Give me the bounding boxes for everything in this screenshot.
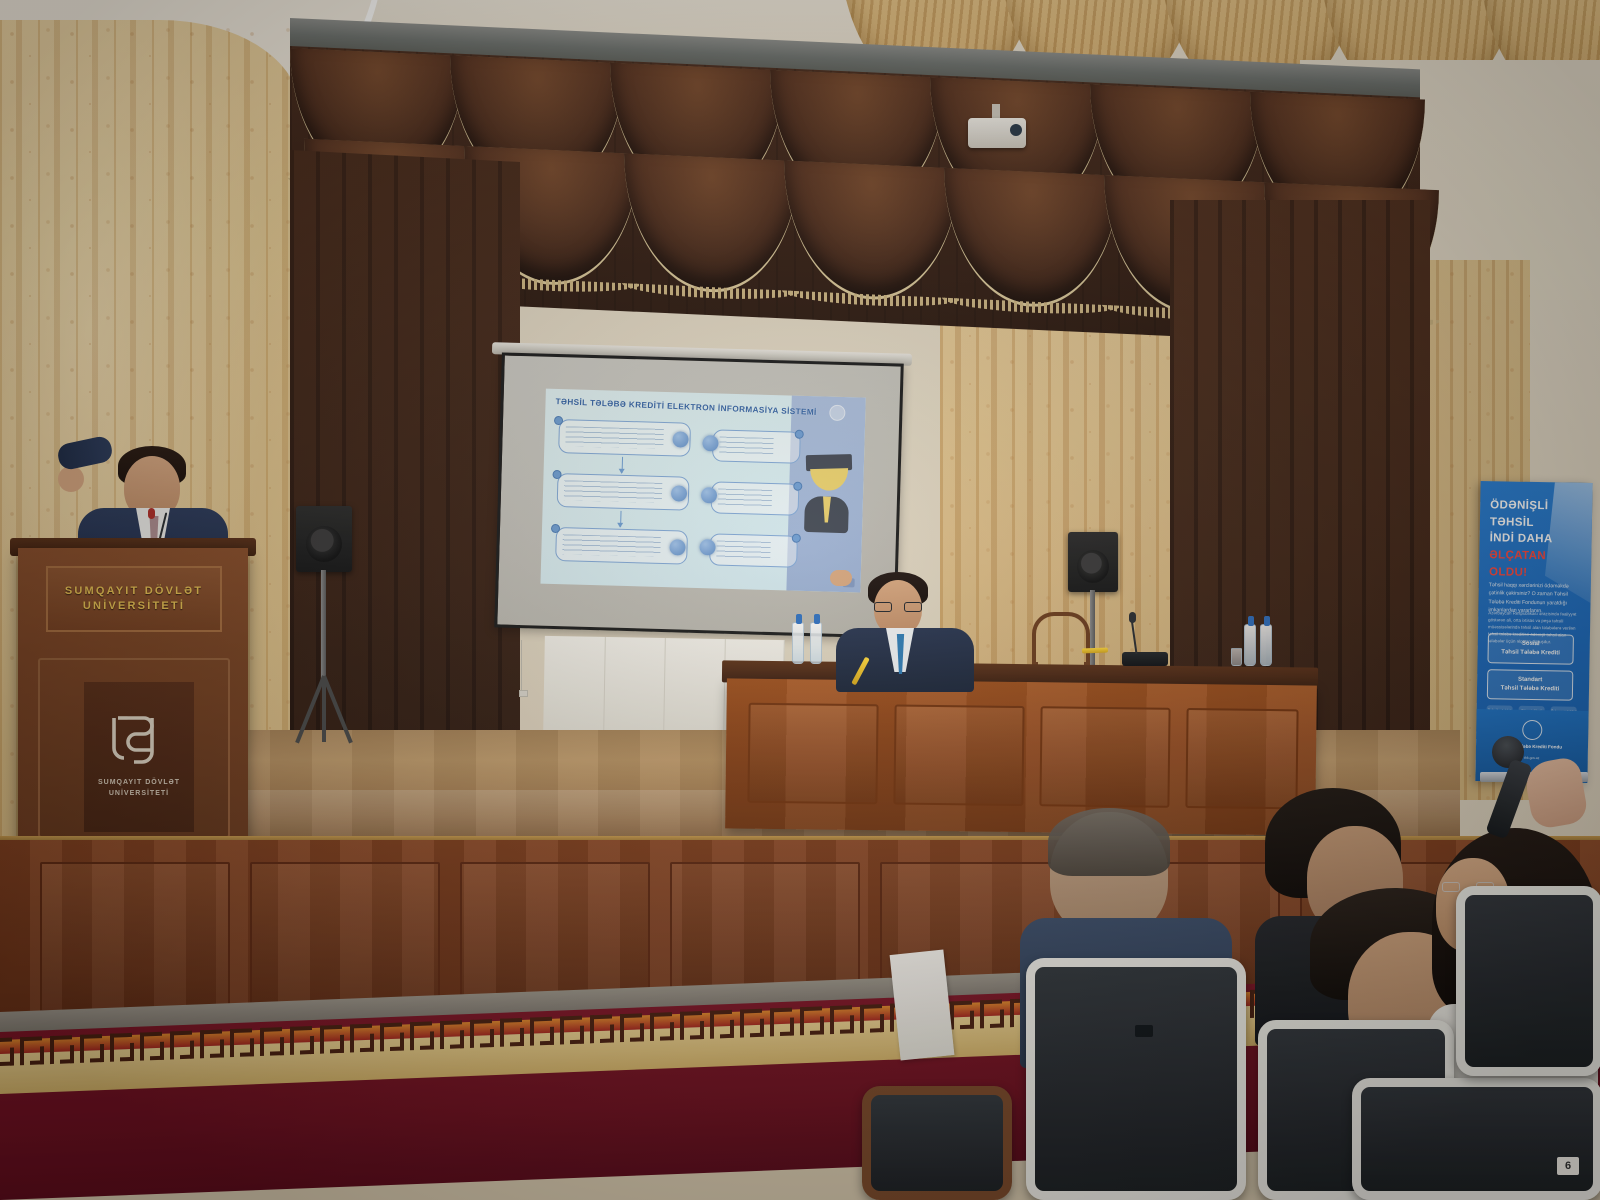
auditorium-photo: TƏHSİL TƏLƏBƏ KREDİTİ ELEKTRON İNFORMASİ… xyxy=(0,0,1600,1200)
banner-card-standard: Standart Təhsil Tələbə Krediti xyxy=(1487,669,1574,700)
mortarboard-icon xyxy=(806,454,852,471)
meander-motif xyxy=(740,1009,762,1038)
flow-text-lines xyxy=(562,534,661,557)
auditorium-seat[interactable]: 6 xyxy=(1352,1078,1600,1200)
meander-motif xyxy=(710,1010,732,1039)
banner-headline-line-1: ÖDƏNİŞLİ xyxy=(1490,499,1548,512)
podium-line-1: SUMQAYIT DÖVLƏT xyxy=(65,584,203,599)
seat-latch xyxy=(1135,1025,1153,1037)
flow-text-lines xyxy=(718,489,772,509)
flow-box-6 xyxy=(712,429,801,463)
speaker-stand-pole-right xyxy=(1090,590,1095,672)
seat-number: 6 xyxy=(1557,1157,1579,1175)
meander-motif xyxy=(110,1033,132,1062)
meander-motif xyxy=(830,1005,852,1034)
banner-headline-line-5: OLDU! xyxy=(1489,566,1528,579)
flow-text-lines xyxy=(716,541,770,561)
meander-motif xyxy=(440,1020,462,1049)
meander-motif xyxy=(50,1035,72,1064)
flow-box-5 xyxy=(711,481,800,515)
banner-headline: ÖDƏNİŞLİ TƏHSİL İNDİ DAHA ƏLÇATAN OLDU! xyxy=(1489,497,1584,582)
meander-motif xyxy=(680,1011,702,1040)
meander-motif xyxy=(590,1014,612,1043)
banner-card-2-line-2: Təhsil Tələbə Krediti xyxy=(1501,685,1560,692)
table-panel xyxy=(1039,706,1170,808)
glasses-icon xyxy=(874,602,922,612)
meander-motif xyxy=(140,1032,162,1061)
valance-scallop xyxy=(624,153,799,296)
banner-headline-line-3: İNDİ DAHA xyxy=(1490,533,1553,546)
meander-motif xyxy=(80,1034,102,1063)
banner-card-social: Sosial Təhsil Tələbə Krediti xyxy=(1487,633,1574,664)
yellow-pen[interactable] xyxy=(1082,648,1108,654)
hair xyxy=(1048,808,1170,876)
meander-motif xyxy=(260,1027,282,1056)
banner-card-1-line-2: Təhsil Tələbə Krediti xyxy=(1501,649,1560,656)
hand xyxy=(830,570,852,586)
loudspeaker-right xyxy=(1068,532,1118,592)
microphone-capsule xyxy=(148,508,155,519)
banner-card-2-line-1: Standart xyxy=(1518,677,1542,683)
wooden-chair[interactable] xyxy=(1032,612,1090,668)
meander-motif xyxy=(530,1017,552,1046)
drinking-glass[interactable] xyxy=(1231,648,1242,666)
presentation-slide: TƏHSİL TƏLƏBƏ KREDİTİ ELEKTRON İNFORMASİ… xyxy=(540,389,865,593)
meander-motif xyxy=(980,1000,1002,1029)
water-bottle[interactable] xyxy=(1244,624,1256,666)
meander-motif xyxy=(290,1026,312,1055)
water-bottle[interactable] xyxy=(1260,624,1272,666)
flow-arrow-2 xyxy=(620,511,621,527)
table-panel xyxy=(747,703,878,805)
logo-caption-line-1: SUMQAYIT DÖVLƏT xyxy=(84,778,194,789)
meander-motif xyxy=(170,1031,192,1060)
meander-motif xyxy=(860,1004,882,1033)
flow-arrow-1 xyxy=(622,457,623,473)
panelist-person xyxy=(830,570,990,680)
tripod-leg xyxy=(322,676,326,742)
meander-motif xyxy=(950,1001,972,1030)
meander-motif xyxy=(0,1038,12,1067)
arm xyxy=(56,435,114,472)
speaker-stand-pole-left xyxy=(321,570,326,682)
flow-text-lines xyxy=(565,426,664,449)
logo-caption-line-2: UNİVERSİTETİ xyxy=(84,789,194,800)
loudspeaker-left xyxy=(296,506,352,572)
meander-motif xyxy=(20,1036,42,1065)
meander-motif xyxy=(470,1019,492,1048)
podium-logo-caption: SUMQAYIT DÖVLƏT UNİVERSİTETİ xyxy=(84,778,194,799)
water-bottle[interactable] xyxy=(810,622,822,664)
meander-motif xyxy=(560,1016,582,1045)
water-bottle[interactable] xyxy=(792,622,804,664)
meander-motif xyxy=(800,1006,822,1035)
wall-cable xyxy=(521,640,522,696)
hand xyxy=(58,466,84,492)
meander-motif xyxy=(620,1013,642,1042)
meander-motif xyxy=(230,1028,252,1057)
microphone-capsule xyxy=(1129,612,1136,623)
wood-panel xyxy=(250,862,440,1012)
projector-lens xyxy=(1010,124,1022,136)
meander-motif xyxy=(350,1024,372,1053)
valance-scallop xyxy=(944,168,1119,311)
auditorium-seat[interactable] xyxy=(1456,886,1600,1076)
meander-motif xyxy=(380,1023,402,1052)
podium-line-2: UNİVERSİTETİ xyxy=(83,599,185,614)
auditorium-seat-armrest[interactable] xyxy=(862,1086,1012,1200)
meander-motif xyxy=(500,1018,522,1047)
flow-box-3 xyxy=(555,527,688,565)
flow-text-lines xyxy=(564,480,663,503)
meander-motif xyxy=(650,1012,672,1041)
meander-motif xyxy=(770,1008,792,1037)
banner-headline-line-2: TƏHSİL xyxy=(1490,516,1534,529)
meander-motif xyxy=(410,1021,432,1050)
flow-text-lines xyxy=(719,437,773,457)
podium-nameplate: SUMQAYIT DÖVLƏT UNİVERSİTETİ xyxy=(46,566,222,632)
fund-emblem-icon xyxy=(1522,720,1542,740)
flow-box-1 xyxy=(558,419,691,457)
table-panel xyxy=(893,704,1024,806)
sdu-logo-icon xyxy=(108,712,170,770)
auditorium-seat[interactable] xyxy=(1026,958,1246,1200)
flow-box-2 xyxy=(557,473,690,511)
banner-card-1-line-1: Sosial xyxy=(1522,641,1540,647)
meander-motif xyxy=(320,1025,342,1054)
wall-outlet xyxy=(519,690,528,697)
valance-scallop xyxy=(784,160,959,303)
wood-panel xyxy=(40,862,230,1012)
banner-headline-line-4: ƏLÇATAN xyxy=(1489,549,1546,562)
paper-handout[interactable] xyxy=(890,949,955,1060)
flow-box-4 xyxy=(709,533,798,567)
rollup-banner: ÖDƏNİŞLİ TƏHSİL İNDİ DAHA ƏLÇATAN OLDU! … xyxy=(1475,481,1592,783)
meander-motif xyxy=(200,1029,222,1058)
microphone-base xyxy=(1122,652,1168,666)
